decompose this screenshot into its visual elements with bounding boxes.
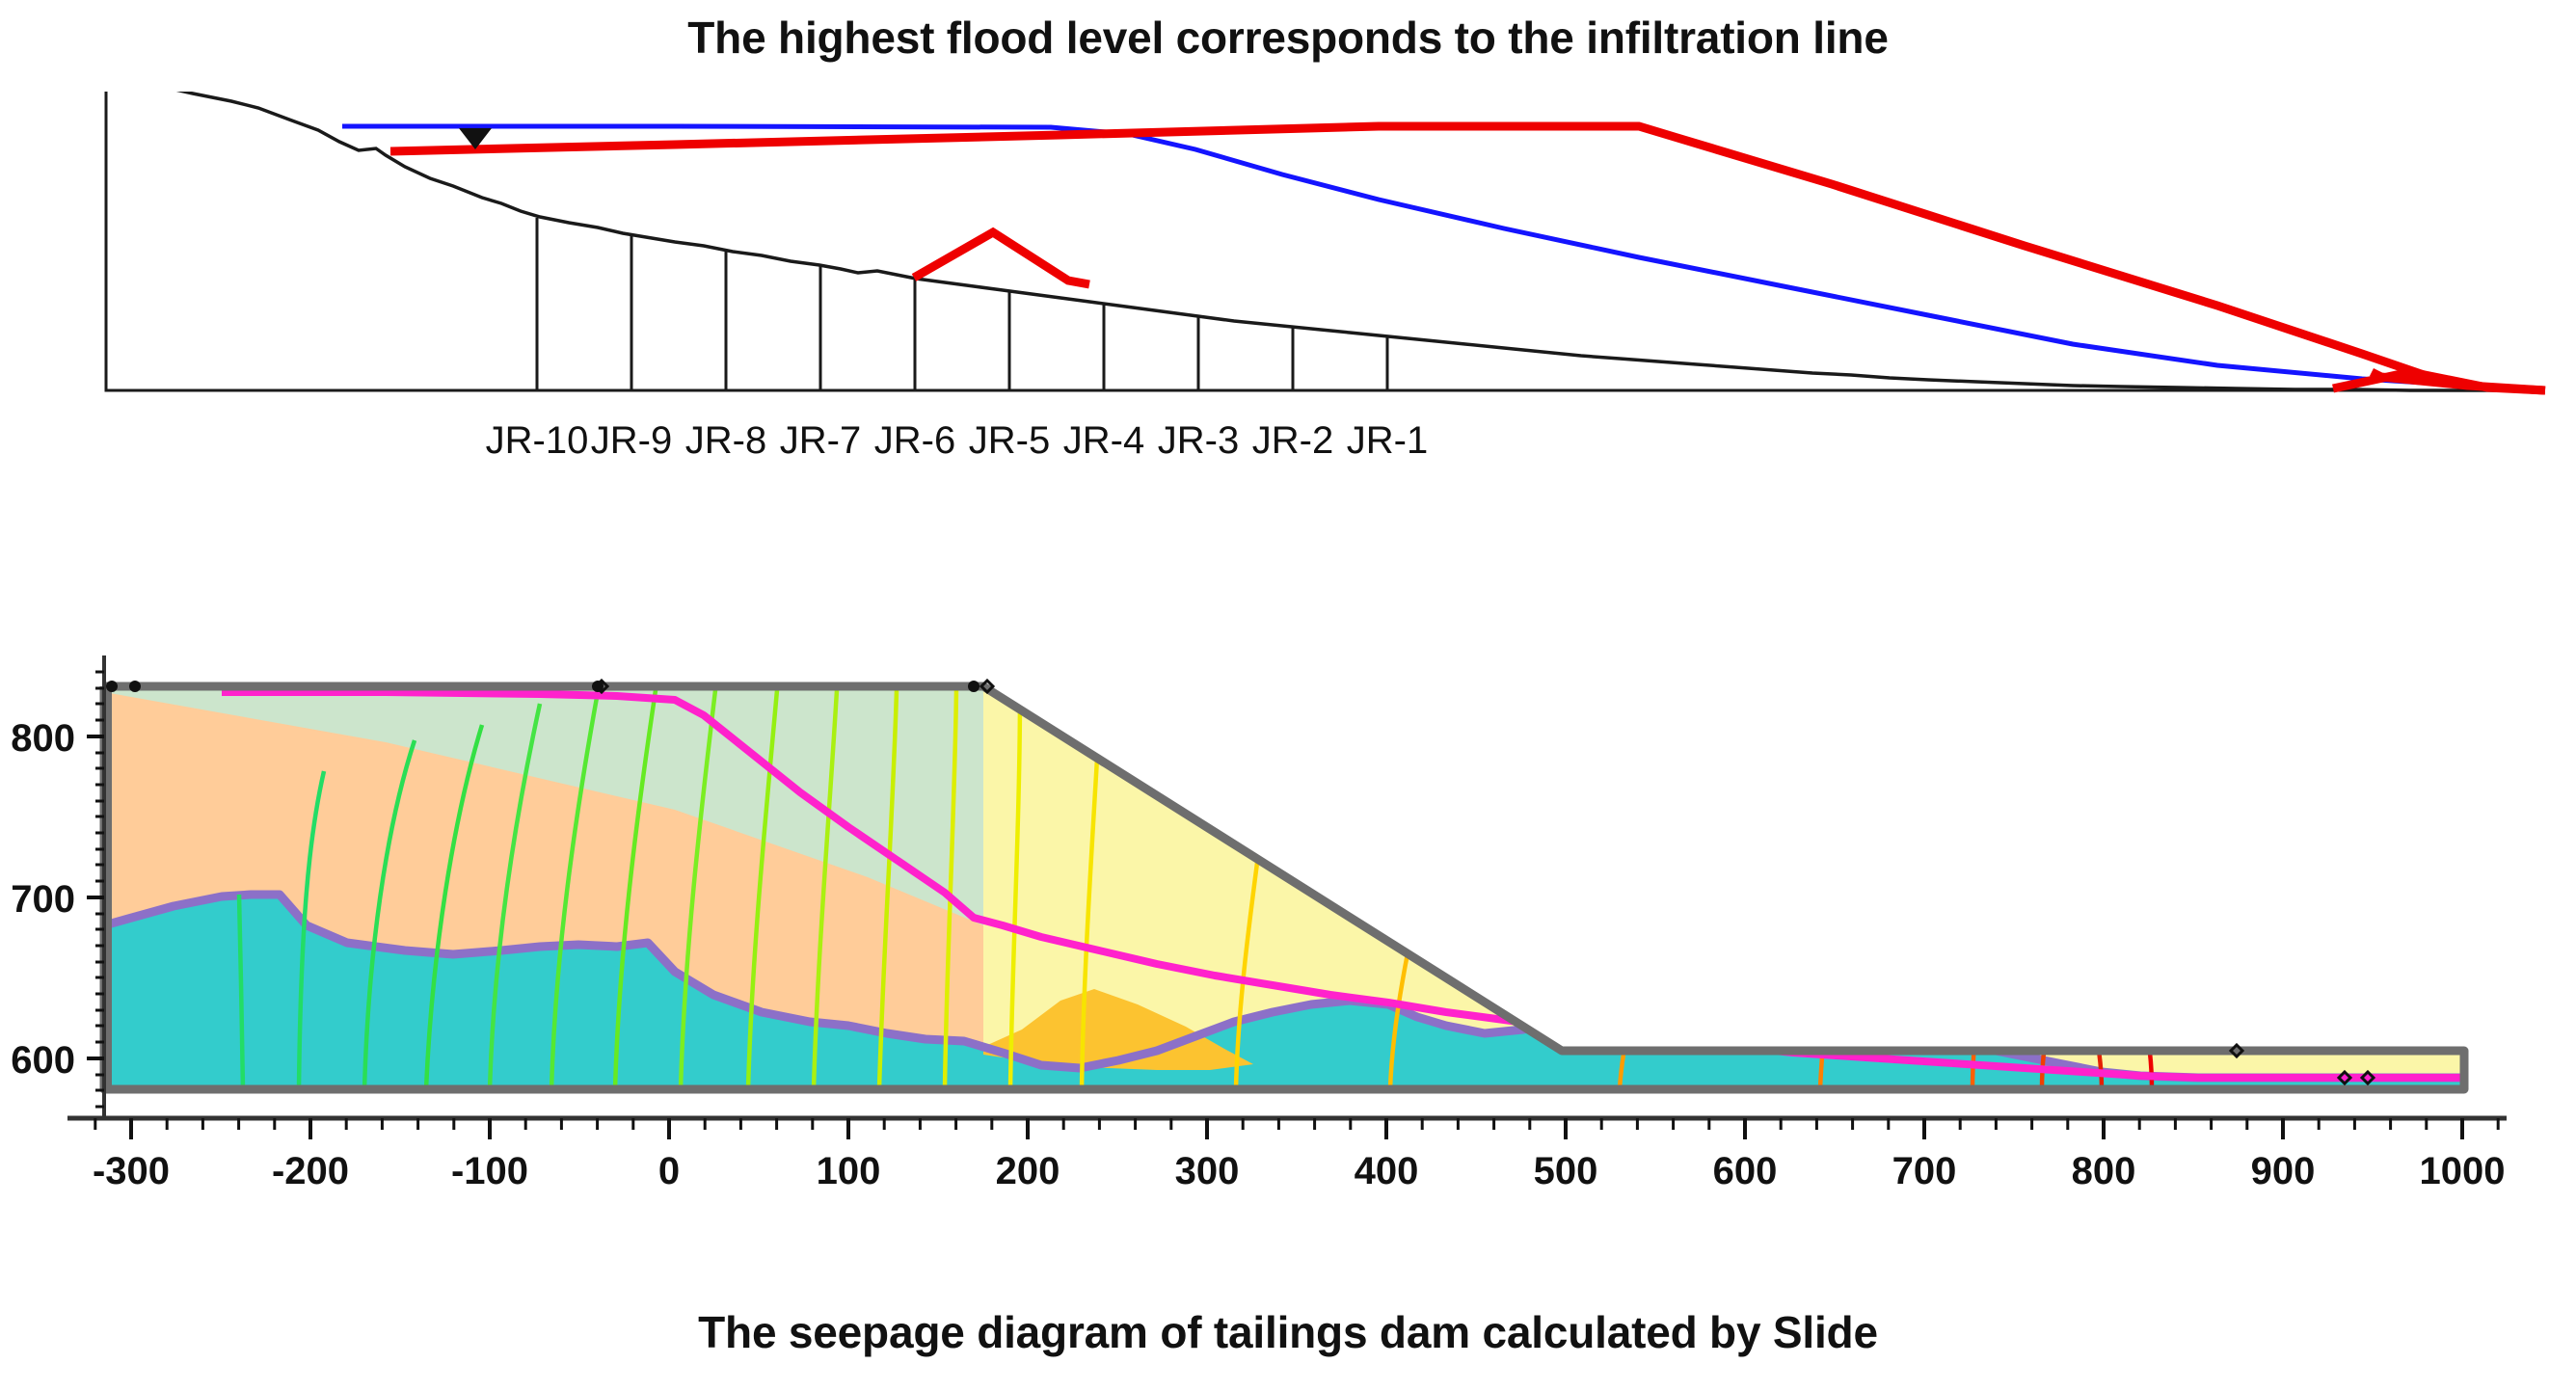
material-zones: [104, 689, 2468, 1101]
x-tick-label--300: -300: [93, 1150, 170, 1192]
y-axis-labels: 800 700 600: [11, 717, 75, 1082]
vertex-marker: [968, 681, 979, 692]
vertex-marker: [129, 681, 141, 692]
y-tick-label-700: 700: [11, 878, 75, 921]
x-tick-label-500: 500: [1534, 1150, 1598, 1192]
borehole-label-jr9: JR-9: [591, 419, 672, 462]
borehole-label-jr10: JR-10: [486, 419, 589, 462]
y-tick-label-600: 600: [11, 1039, 75, 1082]
borehole-tick-group: [537, 218, 1387, 390]
x-tick-label-400: 400: [1355, 1150, 1419, 1192]
seepage-svg: 800 700 600: [0, 636, 2576, 1301]
flow-line-22: [2063, 987, 2098, 1008]
borehole-label-jr7: JR-7: [780, 419, 861, 462]
vertex-marker: [106, 681, 118, 692]
borehole-label-jr2: JR-2: [1252, 419, 1333, 462]
borehole-label-jr3: JR-3: [1158, 419, 1239, 462]
x-tick-label-600: 600: [1713, 1150, 1778, 1192]
x-tick-label--100: -100: [451, 1150, 528, 1192]
flood-line-toe-wedge: [2333, 372, 2545, 390]
borehole-label-jr5: JR-5: [969, 419, 1050, 462]
cross-section-svg: JR-10 JR-9 JR-8 JR-7 JR-6 JR-5 JR-4 JR-3…: [0, 92, 2576, 545]
y-tick-label-800: 800: [11, 717, 75, 760]
x-tick-label-100: 100: [817, 1150, 881, 1192]
top-cross-section-panel: JR-10 JR-9 JR-8 JR-7 JR-6 JR-5 JR-4 JR-3…: [0, 92, 2576, 545]
x-tick-label-1000: 1000: [2420, 1150, 2506, 1192]
x-tick-label-200: 200: [996, 1150, 1060, 1192]
figure-caption: The seepage diagram of tailings dam calc…: [0, 1306, 2576, 1358]
embankment-peak-marker: [914, 232, 1089, 284]
x-tick-label-0: 0: [658, 1150, 680, 1192]
seepage-diagram-panel: 800 700 600: [0, 636, 2576, 1301]
x-tick-label-300: 300: [1175, 1150, 1240, 1192]
borehole-label-jr8: JR-8: [685, 419, 766, 462]
x-axis-labels: -300 -200 -100 0 100 200 300 400 500 600…: [93, 1150, 2506, 1192]
x-tick-label--200: -200: [272, 1150, 349, 1192]
figure-root: The highest flood level corresponds to t…: [0, 0, 2576, 1391]
figure-title: The highest flood level corresponds to t…: [0, 12, 2576, 64]
borehole-label-jr4: JR-4: [1063, 419, 1144, 462]
borehole-label-jr1: JR-1: [1347, 419, 1428, 462]
x-axis-major-ticks: [131, 1118, 2462, 1139]
borehole-label-group: JR-10 JR-9 JR-8 JR-7 JR-6 JR-5 JR-4 JR-3…: [486, 419, 1429, 462]
x-tick-label-700: 700: [1892, 1150, 1957, 1192]
flood-level-line: [390, 126, 2468, 386]
x-tick-label-800: 800: [2072, 1150, 2136, 1192]
borehole-label-jr6: JR-6: [874, 419, 955, 462]
infiltration-line: [342, 126, 2545, 389]
x-tick-label-900: 900: [2251, 1150, 2316, 1192]
